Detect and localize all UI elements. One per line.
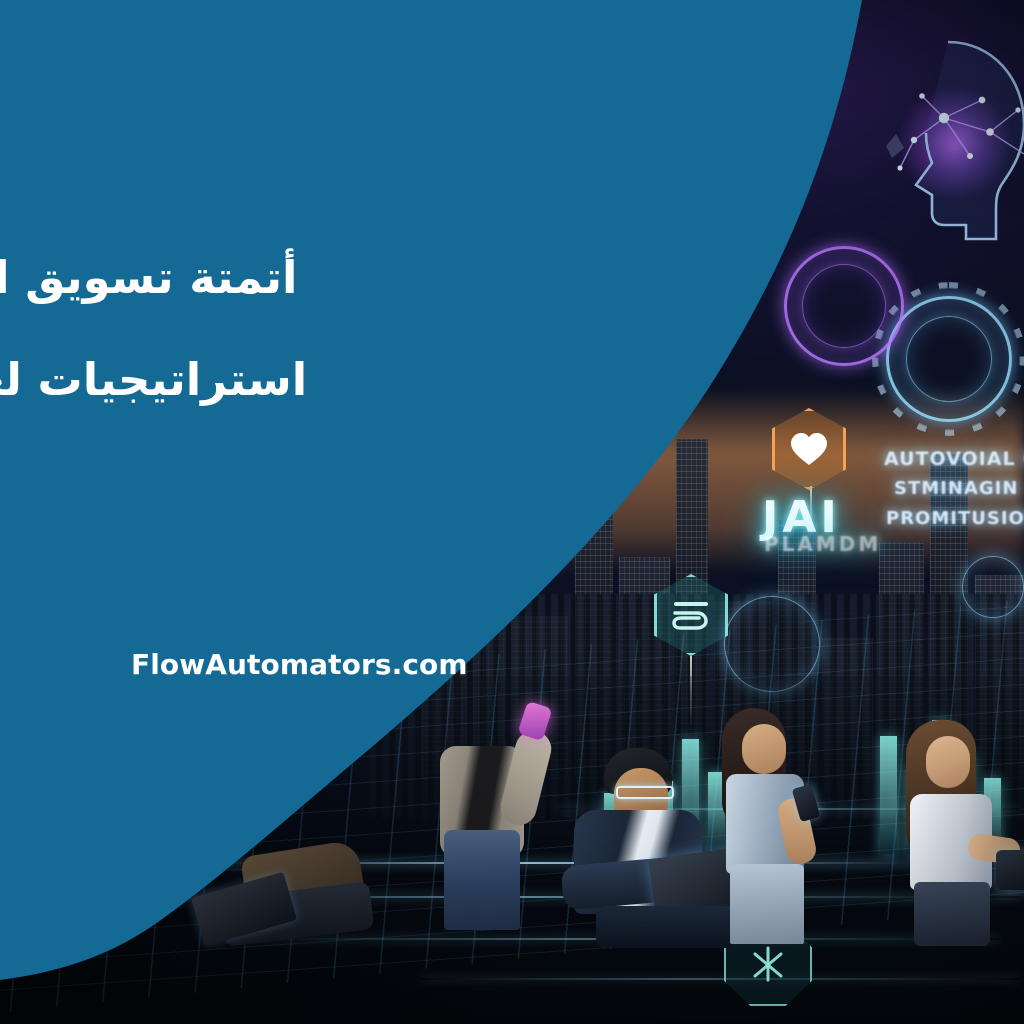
person-phone-dress	[700, 702, 840, 942]
hud-text-line-2: STMINAGIN	[894, 478, 1018, 499]
title-line-2: استراتيجيات لعام 2025	[0, 348, 328, 412]
gear-hud-inner-ring	[906, 316, 992, 402]
brain-network-icon	[852, 36, 1024, 251]
gear-hud-purple-inner	[802, 264, 886, 348]
title-line-1: أتمتة تسويق المؤثرين:	[0, 246, 328, 310]
neon-sign-sub: PLAMDM	[764, 532, 881, 556]
hud-text-line-1: AUTOVOIAL CAMD	[884, 448, 1024, 470]
console-device	[996, 850, 1024, 890]
hud-text-line-3: PROMITUSIONS	[886, 508, 1024, 529]
text-block: أتمتة تسويق المؤثرين: استراتيجيات لعام 2…	[0, 0, 700, 1024]
brand-name: FlowAutomators.com	[131, 648, 468, 681]
cover-image: JAI PLAMDM AUTOVOIAL CAMD STMINAGIN PROM…	[0, 0, 1024, 1024]
person-tablet-right	[892, 716, 1024, 946]
